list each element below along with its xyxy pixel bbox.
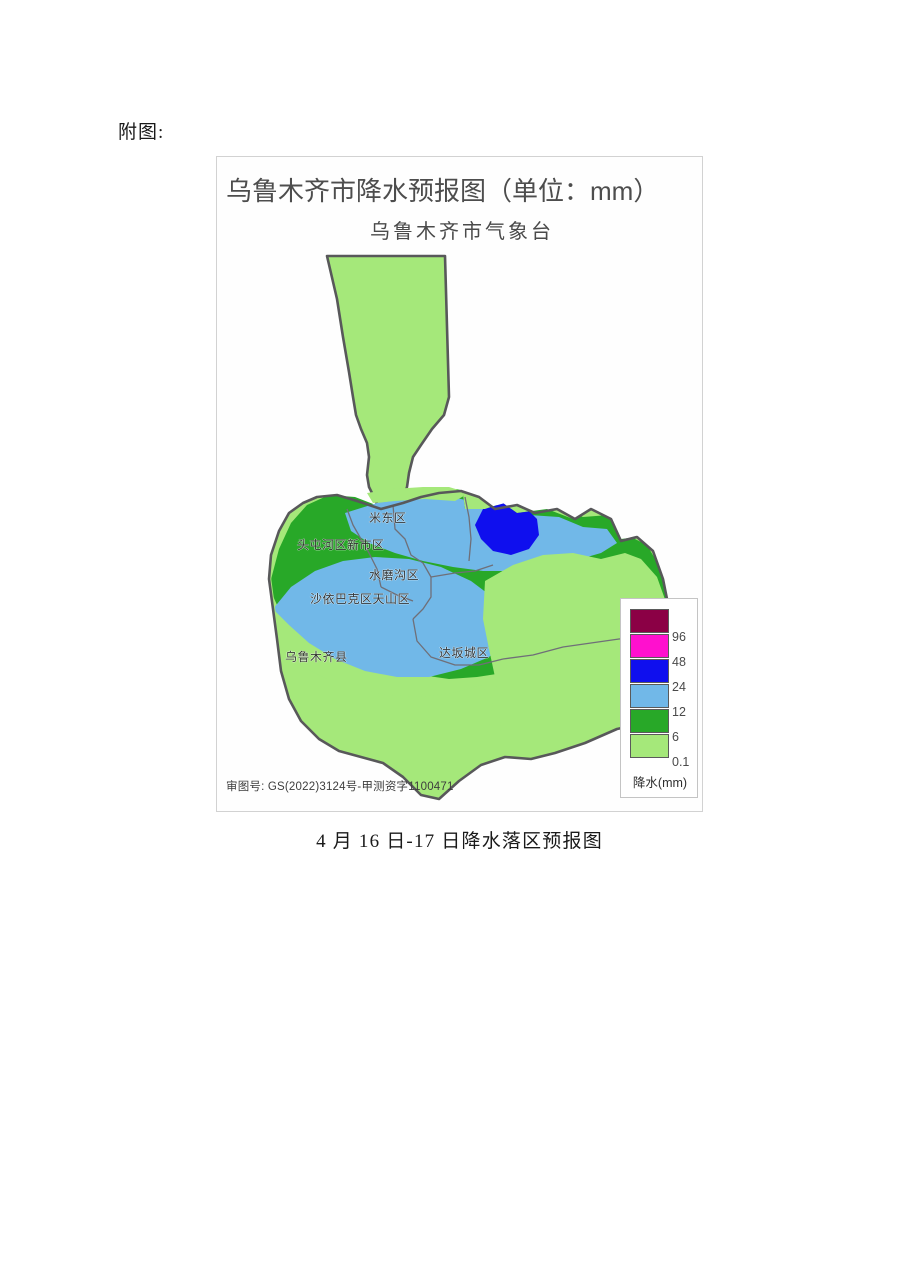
- legend-swatch-12: [630, 684, 669, 708]
- legend-caption: 降水(mm): [621, 772, 699, 791]
- legend-swatch-96: [630, 609, 669, 633]
- district-label-shayibake-tianshan: 沙依巴克区天山区: [310, 590, 410, 607]
- legend-tick-48: 48: [672, 650, 700, 675]
- legend-tick-24: 24: [672, 675, 700, 700]
- legend-tick-6: 6: [672, 725, 700, 750]
- map-subtitle: 乌鲁木齐市气象台: [217, 215, 703, 244]
- legend-swatch-column: [630, 609, 669, 759]
- district-label-toutunhe-xinshi: 头屯河区新市区: [297, 536, 385, 553]
- region-midong-north: [327, 256, 449, 513]
- legend-tick-column: 96 48 24 12 6 0.1: [672, 609, 700, 759]
- district-label-midong: 米东区: [369, 509, 407, 526]
- legend-tick-96: 96: [672, 625, 700, 650]
- legend-tick-12: 12: [672, 700, 700, 725]
- district-label-dabancheng: 达坂城区: [439, 644, 489, 661]
- legend-swatch-6: [630, 709, 669, 733]
- figure-caption: 4 月 16 日-17 日降水落区预报图: [216, 826, 703, 853]
- legend-swatch-48: [630, 634, 669, 658]
- map-approval-number: 审图号: GS(2022)3124号-甲测资字1100471: [226, 778, 454, 794]
- legend-swatch-01: [630, 734, 669, 758]
- district-label-urumqi-county: 乌鲁木齐县: [285, 648, 348, 665]
- legend-swatch-24: [630, 659, 669, 683]
- precipitation-bands: [269, 487, 677, 799]
- attachment-label: 附图:: [118, 117, 164, 144]
- precipitation-legend: 96 48 24 12 6 0.1 降水(mm): [620, 598, 698, 798]
- district-label-shuimogou: 水磨沟区: [369, 566, 419, 583]
- map-title: 乌鲁木齐市降水预报图（单位：mm）: [226, 171, 659, 208]
- precipitation-forecast-figure: 乌鲁木齐市降水预报图（单位：mm） 乌鲁木齐市气象台 米东区 头屯河区新市区 水…: [216, 156, 703, 812]
